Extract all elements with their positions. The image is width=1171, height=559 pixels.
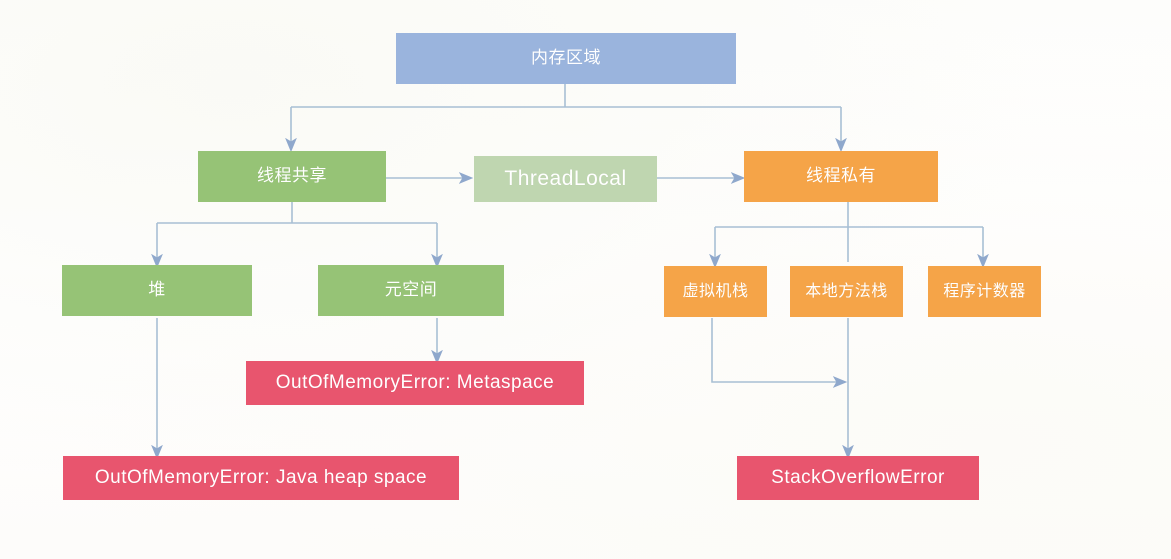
node-native-method-stack-label: 本地方法栈	[805, 283, 888, 301]
node-metaspace-label: 元空间	[385, 281, 438, 300]
node-program-counter: 程序计数器	[928, 266, 1041, 317]
node-thread-shared-label: 线程共享	[257, 167, 327, 186]
node-memory-area-label: 内存区域	[531, 49, 601, 68]
node-vm-stack-label: 虚拟机栈	[682, 283, 748, 301]
node-vm-stack: 虚拟机栈	[664, 266, 767, 317]
node-native-method-stack: 本地方法栈	[790, 266, 903, 317]
node-heap-label: 堆	[148, 281, 166, 300]
node-program-counter-label: 程序计数器	[943, 283, 1026, 301]
edge-vm-stack-to-stackoverflow	[712, 318, 840, 382]
node-thread-private: 线程私有	[744, 151, 938, 202]
node-oom-metaspace-label: OutOfMemoryError: Metaspace	[276, 373, 555, 394]
node-metaspace: 元空间	[318, 265, 504, 316]
node-heap: 堆	[62, 265, 252, 316]
node-memory-area: 内存区域	[396, 33, 736, 84]
node-thread-private-label: 线程私有	[806, 167, 876, 186]
diagram-canvas: 内存区域 线程共享 ThreadLocal 线程私有 堆 元空间 虚拟机栈 本地…	[0, 0, 1171, 559]
node-threadlocal-label: ThreadLocal	[504, 167, 626, 190]
node-threadlocal: ThreadLocal	[474, 156, 657, 202]
node-oom-metaspace: OutOfMemoryError: Metaspace	[246, 361, 584, 405]
node-stack-overflow-error: StackOverflowError	[737, 456, 979, 500]
node-oom-java-heap-space: OutOfMemoryError: Java heap space	[63, 456, 459, 500]
node-thread-shared: 线程共享	[198, 151, 386, 202]
node-oom-java-heap-space-label: OutOfMemoryError: Java heap space	[95, 468, 427, 489]
node-stack-overflow-error-label: StackOverflowError	[771, 468, 945, 489]
